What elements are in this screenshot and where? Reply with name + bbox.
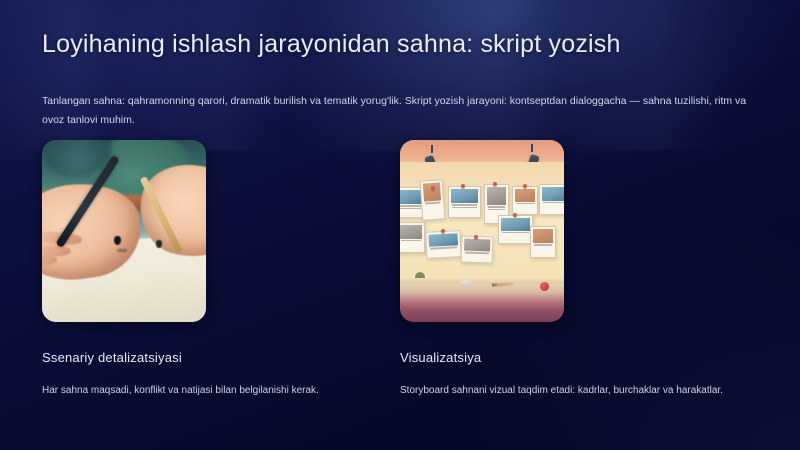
- pin-icon: [431, 186, 435, 190]
- storyboard-illustration: [400, 140, 564, 322]
- pin-icon: [523, 184, 527, 188]
- list-item: Ssenariy detalizatsiyasi Har sahna maqsa…: [42, 140, 400, 400]
- card-description: Har sahna maqsadi, konflikt va natijasi …: [42, 381, 387, 400]
- lamp-rod: [431, 145, 433, 153]
- card-description: Storyboard sahnani vizual taqdim etadi: …: [400, 381, 745, 400]
- pin-icon: [513, 213, 517, 217]
- finger: [42, 254, 57, 267]
- storyboard-card: [530, 226, 557, 259]
- pencil-tip: [156, 240, 162, 248]
- storyboard-card: [426, 230, 462, 259]
- storyboard-card: [539, 184, 564, 215]
- storyboard-card: [400, 222, 425, 253]
- slide-root: Loyihaning ishlash jarayonidan sahna: sk…: [0, 0, 800, 450]
- card-title: Visualizatsiya: [400, 350, 758, 365]
- storyboard-card: [512, 186, 539, 215]
- card-title: Ssenariy detalizatsiyasi: [42, 350, 400, 365]
- storyboard-card: [498, 215, 533, 244]
- page-title: Loyihaning ishlash jarayonidan sahna: sk…: [42, 30, 621, 59]
- storyboard-card: [460, 236, 492, 265]
- pin-icon: [474, 235, 478, 239]
- list-item: Visualizatsiya Storyboard sahnani vizual…: [400, 140, 758, 400]
- storyboard-card: [448, 186, 481, 219]
- lamp-rod: [531, 144, 533, 152]
- desk: [400, 284, 564, 322]
- pencil-mark: [117, 249, 127, 252]
- storyboard-wall-photo: [400, 140, 564, 322]
- slide-subtitle: Tanlangan sahna: qahramonning qarori, dr…: [42, 92, 757, 131]
- card-list: Ssenariy detalizatsiyasi Har sahna maqsa…: [42, 140, 758, 400]
- pin-icon: [461, 184, 465, 188]
- hands-writing-script-photo: [42, 140, 206, 322]
- writing-illustration: [42, 140, 206, 322]
